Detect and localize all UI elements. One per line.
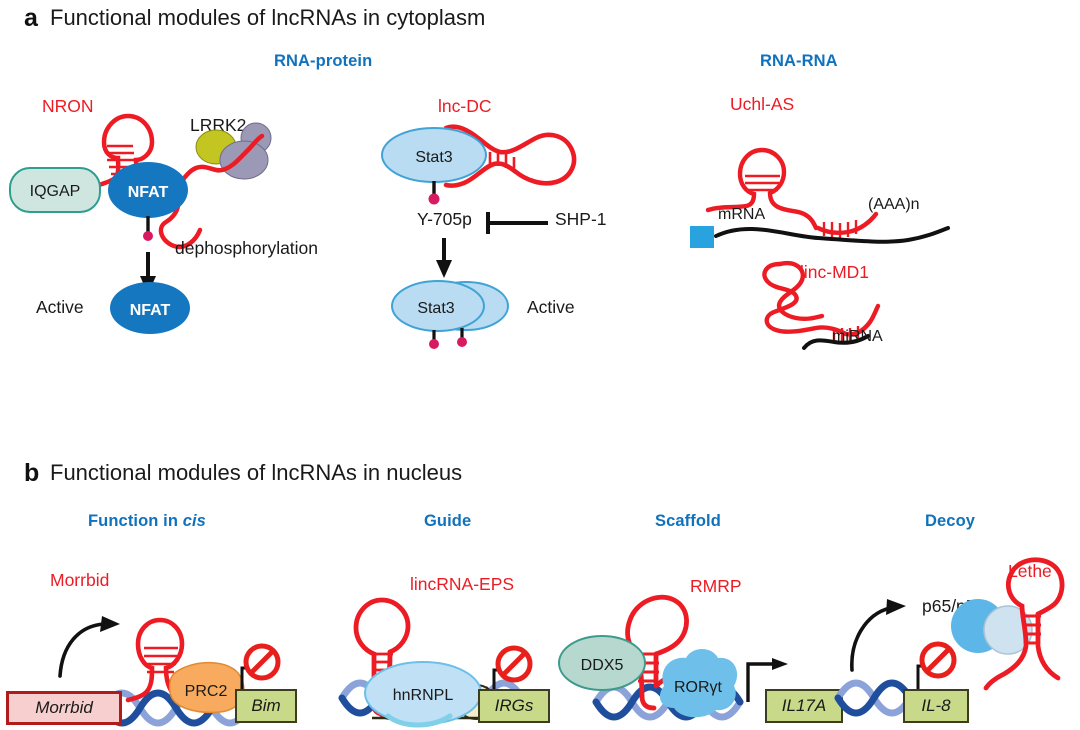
transcription-arrow-head-b3 bbox=[772, 658, 788, 670]
phospho-dot-stat3 bbox=[429, 194, 440, 205]
protein-shape-nfat-active bbox=[110, 282, 190, 334]
dna-helix-b4 bbox=[838, 683, 910, 713]
section-title-guide: Guide bbox=[424, 512, 471, 531]
rmrp-rna-foot bbox=[642, 696, 654, 708]
target-gene-label-irgs: IRGs bbox=[480, 691, 548, 720]
protein-shape-stat3 bbox=[382, 128, 486, 182]
section-title-function-in-cis: Function in cis bbox=[88, 512, 206, 531]
protein-shape-stat3-dimer-left bbox=[392, 281, 484, 331]
protein-shape-prc2 bbox=[170, 663, 244, 713]
uchlas-mrna-base-pairs bbox=[824, 220, 856, 238]
transcription-blocked-icon-b2 bbox=[498, 648, 530, 680]
inhibitor-label-shp1: SHP-1 bbox=[555, 209, 607, 230]
lethe-activation-arrow-head bbox=[886, 599, 906, 615]
section-title-cis-prefix: Function in bbox=[88, 512, 183, 530]
phospho-dot-dimer-2 bbox=[457, 337, 467, 347]
diagram-lncdc-stat3: Stat3 Stat3 bbox=[360, 80, 690, 340]
site-label-y705p: Y-705p bbox=[417, 209, 472, 230]
protein-shape-hnrnpl bbox=[365, 662, 481, 724]
target-label-mirna: miRNA bbox=[832, 328, 883, 346]
protein-shape-ddx5 bbox=[559, 636, 645, 690]
section-title-scaffold: Scaffold bbox=[655, 512, 721, 531]
lethe-rna-tail-right bbox=[1038, 646, 1058, 678]
lrrk2-gray-blob-main bbox=[220, 141, 268, 179]
section-title-decoy: Decoy bbox=[925, 512, 975, 531]
panel-b-letter: b bbox=[24, 461, 39, 486]
process-label-dephosphorylation: dephosphorylation bbox=[175, 238, 318, 259]
section-title-cis-italic: cis bbox=[183, 512, 206, 530]
protein-shape-iqgap bbox=[10, 168, 100, 212]
polya-tail-label: (AAA)n bbox=[868, 196, 920, 214]
protein-shape-nfat bbox=[108, 162, 188, 218]
morrbid-activation-arrow-head bbox=[100, 616, 120, 632]
phospho-dot-nfat bbox=[143, 231, 153, 241]
transcription-blocked-icon-b1 bbox=[246, 646, 278, 678]
transcription-blocked-icon-b4 bbox=[922, 644, 954, 676]
protein-shape-rorgt bbox=[660, 649, 737, 717]
panel-a-letter: a bbox=[24, 6, 38, 31]
mrna-cap-square bbox=[690, 226, 714, 248]
target-gene-box-il8[interactable]: IL-8 bbox=[903, 689, 969, 723]
panel-a-title: Functional modules of lncRNAs in cytopla… bbox=[50, 7, 485, 29]
morrbid-activation-arrow bbox=[60, 624, 104, 676]
target-gene-label-il8: IL-8 bbox=[905, 691, 967, 720]
panel-b-title: Functional modules of lncRNAs in nucleus bbox=[50, 462, 462, 484]
outcome-label-active-nfat: Active bbox=[36, 297, 84, 318]
outcome-label-stat3-active: Active bbox=[527, 297, 575, 318]
phospho-dot-dimer-1 bbox=[429, 339, 439, 349]
section-title-rna-protein: RNA-protein bbox=[274, 52, 372, 71]
source-gene-label-morrbid: Morrbid bbox=[9, 694, 119, 722]
lethe-activation-arrow bbox=[852, 608, 890, 670]
section-title-rna-rna: RNA-RNA bbox=[760, 52, 838, 71]
source-gene-box-morrbid[interactable]: Morrbid bbox=[6, 691, 122, 725]
target-label-mrna: mRNA bbox=[718, 206, 765, 224]
stat3-arrow-head bbox=[436, 260, 452, 278]
